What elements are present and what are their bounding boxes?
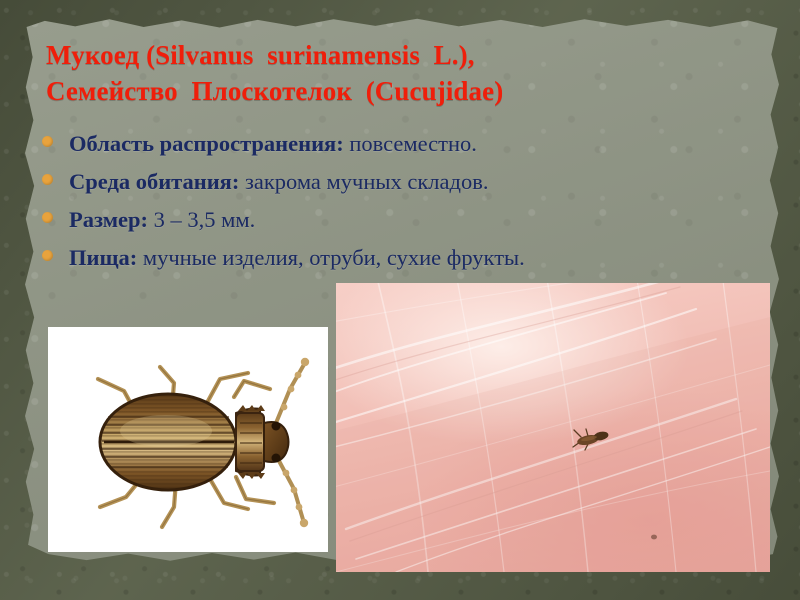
bullet-dot-icon	[42, 212, 53, 223]
bullet-item-size: Размер: 3 – 3,5 мм.	[42, 208, 758, 246]
bullet-item-food: Пища: мучные изделия, отруби, сухие фрук…	[42, 246, 758, 284]
bullet-dot-icon	[42, 174, 53, 185]
bullet-dot-icon	[42, 250, 53, 261]
bullet-value-habitat: закрома мучных складов.	[239, 169, 488, 194]
bullet-text-distribution: Область распространения: повсеместно.	[69, 132, 477, 157]
bullet-label-food: Пища:	[69, 245, 137, 270]
beetle-specimen-photo	[48, 327, 328, 552]
bullet-value-size: 3 – 3,5 мм.	[148, 207, 255, 232]
bullet-label-habitat: Среда обитания:	[69, 169, 239, 194]
bullet-value-food: мучные изделия, отруби, сухие фрукты.	[137, 245, 525, 270]
tiny-beetle-on-hand	[571, 425, 613, 453]
hand-creases	[336, 283, 770, 572]
slide-title: Мукоед (Silvanus surinamensis L.), Семей…	[46, 38, 746, 110]
bullet-dot-icon	[42, 136, 53, 147]
presentation-slide: Мукоед (Silvanus surinamensis L.), Семей…	[0, 0, 800, 600]
bullet-list: Область распространения: повсеместно. Ср…	[42, 132, 758, 284]
bullet-text-size: Размер: 3 – 3,5 мм.	[69, 208, 255, 233]
bullet-text-food: Пища: мучные изделия, отруби, сухие фрук…	[69, 246, 525, 271]
beetle-on-hand-photo	[336, 283, 770, 572]
bullet-item-habitat: Среда обитания: закрома мучных складов.	[42, 170, 758, 208]
bullet-text-habitat: Среда обитания: закрома мучных складов.	[69, 170, 488, 195]
beetle-specimen-illustration	[48, 327, 328, 552]
bullet-value-distribution: повсеместно.	[344, 131, 477, 156]
bullet-item-distribution: Область распространения: повсеместно.	[42, 132, 758, 170]
bullet-label-distribution: Область распространения:	[69, 131, 344, 156]
bullet-label-size: Размер:	[69, 207, 148, 232]
slide-title-line-2: Семейство Плоскотелок (Cucujidae)	[46, 74, 746, 110]
slide-title-line-1: Мукоед (Silvanus surinamensis L.),	[46, 38, 746, 74]
